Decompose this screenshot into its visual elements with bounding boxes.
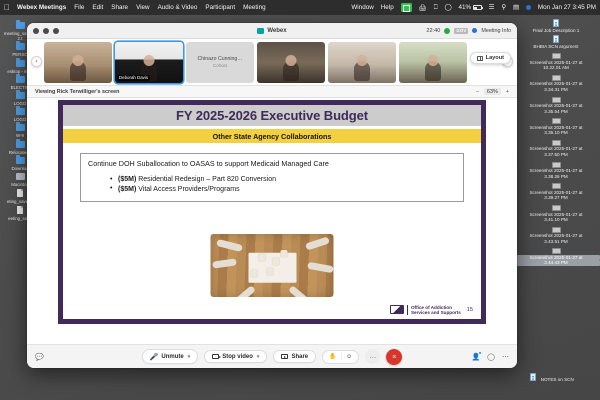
slide-lead-text: Continue DOH Suballocation to OASAS to s… xyxy=(88,159,456,169)
macos-menu-bar:  Webex Meetings File Edit Share View Au… xyxy=(0,0,600,15)
screenshot-icon xyxy=(512,180,600,189)
participant-tile[interactable]: Chinazo Cunning… Cohost xyxy=(186,42,254,83)
screenshot-icon xyxy=(512,202,600,211)
menu-item-participant[interactable]: Participant xyxy=(205,4,235,11)
meeting-info-button[interactable]: Meeting Info xyxy=(481,28,511,34)
new-york-state-logo xyxy=(390,305,404,314)
bullet-text: Residential Redesign – Part 820 Conversi… xyxy=(136,176,276,183)
blue-doc-icon xyxy=(512,34,600,43)
desktop-icon[interactable]: Screenshot 2025-01-27 at3.41.10 PM xyxy=(512,202,600,223)
bullet-amount: ($5M) xyxy=(118,186,136,193)
participant-tile[interactable]: Deborah Davis xyxy=(115,42,183,83)
desktop-icon-label-2: 3.39.27 PM xyxy=(512,195,600,201)
desktop-icon[interactable]: Screenshot 2025-01-27 at3.44.43 PM xyxy=(512,245,600,266)
participant-silhouette xyxy=(283,61,299,81)
zoom-in-button[interactable]: + xyxy=(506,89,509,95)
menu-item-view[interactable]: View xyxy=(136,4,150,11)
menu-app-name[interactable]: Webex Meetings xyxy=(17,4,66,11)
bullet-amount: ($5M) xyxy=(118,176,136,183)
desktop-icon[interactable]: Screenshot 2025-01-27 at10.22.01 AM xyxy=(512,50,600,71)
presentation-slide: FY 2025-2026 Executive Budget Other Stat… xyxy=(58,100,486,324)
desktop-icon-label-2: 3.44.43 PM xyxy=(512,260,600,266)
layout-button[interactable]: Layout xyxy=(470,52,511,64)
share-button[interactable]: Share xyxy=(273,350,316,363)
participant-tile[interactable] xyxy=(257,42,325,83)
desktop-icon[interactable]: Final Job Description 1 xyxy=(512,18,600,33)
slide-subtitle: Other State Agency Collaborations xyxy=(63,129,481,143)
slide-content-box: Continue DOH Suballocation to OASAS to s… xyxy=(80,153,464,202)
user-account-icon[interactable] xyxy=(526,5,531,10)
menu-item-help[interactable]: Help xyxy=(381,4,394,11)
siri-icon[interactable]: ◯ xyxy=(444,4,451,11)
zoom-level-value[interactable]: 63% xyxy=(484,88,501,95)
slide-page-number: 15 xyxy=(467,307,473,313)
menu-item-meeting[interactable]: Meeting xyxy=(243,4,265,11)
webex-logo-icon xyxy=(257,28,264,34)
keyboard-icon[interactable]: ⎕ xyxy=(434,4,438,12)
participant-silhouette xyxy=(425,61,441,81)
desktop-right-icons: Final Job Description 1BHBIA SCN argumen… xyxy=(512,18,600,266)
webex-title-text: Webex xyxy=(267,28,286,34)
meeting-timer: 22:40 xyxy=(426,28,440,34)
menu-clock[interactable]: Mon Jan 27 3:45 PM xyxy=(538,4,596,11)
participant-filmstrip: ‹ Deborah Davis Chinazo Cunning… Cohost … xyxy=(27,39,517,85)
unmute-button[interactable]: 🎤 Unmute ▾ xyxy=(142,349,199,364)
screenshot-icon xyxy=(512,137,600,146)
menu-item-file[interactable]: File xyxy=(74,4,84,11)
bullet-text: Vital Access Providers/Programs xyxy=(136,186,239,193)
screenshot-icon xyxy=(512,245,600,254)
stop-video-button[interactable]: Stop video ▾ xyxy=(204,350,267,363)
more-options-icon[interactable]: ⋯ xyxy=(502,353,509,361)
blue-doc-icon xyxy=(512,18,600,27)
filmstrip-prev-arrow[interactable]: ‹ xyxy=(31,56,42,67)
layout-button-label: Layout xyxy=(486,55,504,61)
search-icon[interactable]: ⚲ xyxy=(501,4,506,11)
desktop-icon-label-2: 3.35.10 PM xyxy=(512,130,600,136)
menu-item-audio-video[interactable]: Audio & Video xyxy=(158,4,198,11)
participant-tile[interactable] xyxy=(44,42,112,83)
battery-percent-label: 41% xyxy=(459,4,472,11)
chat-panel-icon[interactable]: ◯ xyxy=(487,353,495,361)
webex-title-bar: Webex 22:40 GOV Meeting Info xyxy=(27,23,517,39)
more-options-button[interactable]: … xyxy=(365,349,380,364)
participant-tile[interactable] xyxy=(328,42,396,83)
printer-icon[interactable]: 🖨 xyxy=(419,4,427,12)
desktop-icon-label-2: 3.41.10 PM xyxy=(512,217,600,223)
gov-badge: GOV xyxy=(454,28,468,34)
screenshot-icon xyxy=(512,115,600,124)
screenshot-icon xyxy=(512,50,600,59)
oasas-agency-name: Office of Addiction Services and Support… xyxy=(407,305,460,315)
connection-status-icon xyxy=(444,28,450,34)
desktop-icon-label-2: 3.37.50 PM xyxy=(512,152,600,158)
screenshot-icon xyxy=(512,224,600,233)
desktop-icon-label-2: 3.35.54 PM xyxy=(512,109,600,115)
desktop-icon[interactable]: Screenshot 2025-01-27 at3.35.54 PM xyxy=(512,94,600,115)
zoom-out-button[interactable]: – xyxy=(476,89,479,95)
slide-bullet-item: ($5M) Vital Access Providers/Programs xyxy=(110,185,456,195)
desktop-icon-label-2: 3.34.31 PM xyxy=(512,87,600,93)
battery-status[interactable]: 41% xyxy=(459,4,482,11)
smiley-icon[interactable]: ☺ xyxy=(346,354,352,360)
menu-item-share[interactable]: Share xyxy=(111,4,128,11)
layout-icon xyxy=(477,56,483,61)
screenshot-icon xyxy=(512,72,600,81)
slide-bullet-item: ($5M) Residential Redesign – Part 820 Co… xyxy=(110,175,456,185)
info-dot-icon xyxy=(472,28,477,33)
desktop-icon[interactable]: Screenshot 2025-01-27 at3.38.26 PM xyxy=(512,159,600,180)
webex-meeting-window: Webex 22:40 GOV Meeting Info ‹ Deborah D… xyxy=(27,23,517,368)
desktop-icon-notes-on-scn[interactable]: NOTES on SCN xyxy=(510,368,594,386)
chevron-down-icon[interactable]: ▾ xyxy=(257,354,260,360)
battery-icon xyxy=(473,5,482,10)
chat-bubble-icon[interactable]: 💬 xyxy=(35,353,44,361)
menu-item-window[interactable]: Window xyxy=(351,4,373,11)
blue-doc-icon xyxy=(530,368,536,385)
desktop-icon[interactable]: Screenshot 2025-01-27 at3.35.10 PM xyxy=(512,115,600,136)
oasas-line-2: Services and Supports xyxy=(411,310,461,315)
participant-name-label: Deborah Davis xyxy=(117,75,150,81)
desktop-icon[interactable]: Screenshot 2025-01-27 at3.39.27 PM xyxy=(512,180,600,201)
menu-item-edit[interactable]: Edit xyxy=(92,4,103,11)
participant-name-label: Chinazo Cunning… xyxy=(198,56,243,62)
screen-share-status-bar: Viewing Rick Terwilliger's screen – 63% … xyxy=(27,85,517,98)
apple-menu-icon[interactable]:  xyxy=(4,4,10,12)
desktop-icon[interactable]: BHBIA SCN argument xyxy=(512,34,600,49)
screen-share-active-icon[interactable] xyxy=(401,3,412,12)
slide-title: FY 2025-2026 Executive Budget xyxy=(63,105,481,126)
participant-silhouette xyxy=(70,61,86,81)
reactions-group[interactable]: ✋ | ☺ xyxy=(322,350,359,364)
desktop-icon[interactable]: Screenshot 2025-01-27 at3.43.51 PM xyxy=(512,224,600,245)
desktop-icon-label: NOTES on SCN xyxy=(541,377,574,382)
zoom-controls: – 63% + xyxy=(476,88,509,95)
end-meeting-button[interactable]: × xyxy=(386,349,402,365)
desktop-icon[interactable]: Screenshot 2025-01-27 at3.34.31 PM xyxy=(512,72,600,93)
microphone-muted-icon: 🎤 xyxy=(150,353,159,361)
camera-icon xyxy=(212,354,219,359)
webex-control-toolbar: 💬 🎤 Unmute ▾ Stop video ▾ Share ✋ | ☺ xyxy=(27,344,517,368)
hands-assembling-puzzle-photo xyxy=(211,234,334,297)
desktop-icon-label-2: 3.43.51 PM xyxy=(512,239,600,245)
desktop-icon[interactable]: Screenshot 2025-01-27 at3.37.50 PM xyxy=(512,137,600,158)
shared-screen-area: FY 2025-2026 Executive Budget Other Stat… xyxy=(27,98,517,344)
desktop-icon-label: Final Job Description 1 xyxy=(512,28,600,34)
control-center-icon[interactable]: ▤ xyxy=(513,4,519,11)
participants-icon[interactable]: 👤 xyxy=(471,353,480,361)
participant-role-label: Cohost xyxy=(213,63,227,68)
raise-hand-icon[interactable]: ✋ xyxy=(329,353,336,360)
screenshot-icon xyxy=(512,159,600,168)
participant-tile[interactable] xyxy=(399,42,467,83)
stop-video-label: Stop video xyxy=(222,354,253,360)
screenshot-icon xyxy=(512,94,600,103)
share-label: Share xyxy=(291,354,308,360)
desktop-icon-label: BHBIA SCN argument xyxy=(512,44,600,50)
participant-silhouette xyxy=(354,61,370,81)
unmute-label: Unmute xyxy=(161,354,183,360)
desktop-icon-label-2: 10.22.01 AM xyxy=(512,65,600,71)
wifi-icon[interactable]: ☰ xyxy=(489,4,495,11)
share-screen-icon xyxy=(281,354,288,360)
slide-footer: Office of Addiction Services and Support… xyxy=(390,305,473,315)
viewing-screen-label: Viewing Rick Terwilliger's screen xyxy=(35,89,119,95)
chevron-down-icon[interactable]: ▾ xyxy=(188,354,191,360)
desktop-icon-label-2: 3.38.26 PM xyxy=(512,174,600,180)
slide-bullet-list: ($5M) Residential Redesign – Part 820 Co… xyxy=(110,175,456,194)
